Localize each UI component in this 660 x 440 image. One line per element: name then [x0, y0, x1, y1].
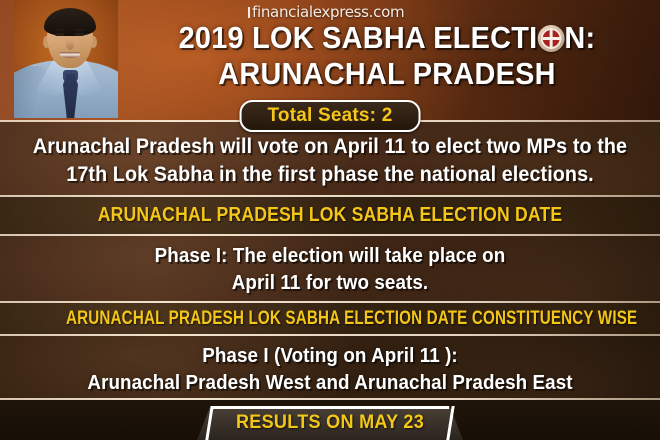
page-title-line1: 2019 LOK SABHA ELECTIN: — [139, 20, 636, 56]
constituency-body: Phase I (Voting on April 11 ): Arunachal… — [20, 343, 640, 397]
intro-line2: 17th Lok Sabha in the first phase the na… — [20, 161, 640, 189]
page-title-line1-suffix: N: — [564, 20, 595, 55]
site-logo-text: financialexpress.com — [252, 3, 404, 21]
constituency-line1: Phase I (Voting on April 11 ): — [20, 343, 640, 370]
election-commission-emblem-icon — [537, 25, 564, 52]
portrait-nose — [66, 40, 74, 50]
portrait-eye-left — [55, 33, 64, 36]
election-date-body: Phase I: The election will take place on… — [20, 243, 640, 297]
divider-section1-body — [0, 234, 660, 236]
page-title-line1-text: 2019 LOK SABHA ELECTI — [179, 20, 538, 55]
divider-section2-body — [0, 334, 660, 336]
results-ribbon: RESULTS ON MAY 23 — [197, 406, 463, 440]
infographic-root: financialexpress.com 2019 LOK SABHA ELEC… — [0, 0, 660, 440]
logo-tick-mark — [248, 7, 250, 18]
constituency-heading: ARUNACHAL PRADESH LOK SABHA ELECTION DAT… — [66, 308, 594, 330]
intro-line1: Arunachal Pradesh will vote on April 11 … — [20, 133, 640, 161]
election-date-line2: April 11 for two seats. — [20, 270, 640, 297]
divider-body-footer — [0, 398, 660, 400]
results-label: RESULTS ON MAY 23 — [204, 406, 457, 440]
page-title-line2: ARUNACHAL PRADESH — [139, 56, 636, 92]
divider-body-section2 — [0, 301, 660, 303]
divider-intro-section1 — [0, 195, 660, 197]
portrait-brow-left — [55, 29, 64, 31]
constituency-line2: Arunachal Pradesh West and Arunachal Pra… — [20, 370, 640, 397]
portrait-mouth — [60, 52, 80, 58]
portrait-photo — [14, 0, 118, 118]
intro-text: Arunachal Pradesh will vote on April 11 … — [20, 133, 640, 189]
election-date-line1: Phase I: The election will take place on — [20, 243, 640, 270]
portrait-brow-right — [75, 29, 84, 31]
page-title: 2019 LOK SABHA ELECTIN: ARUNACHAL PRADES… — [139, 20, 636, 92]
emblem-cross — [540, 28, 561, 49]
site-logo[interactable]: financialexpress.com — [248, 3, 404, 21]
portrait-eye-right — [75, 33, 84, 36]
election-date-heading: ARUNACHAL PRADESH LOK SABHA ELECTION DAT… — [40, 204, 621, 227]
total-seats-badge: Total Seats: 2 — [240, 100, 421, 132]
